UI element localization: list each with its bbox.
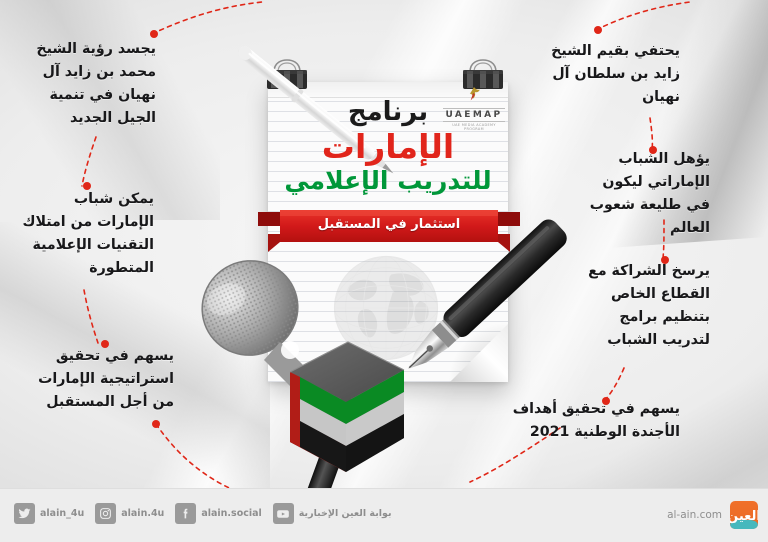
- callout-enable: يمكن شباب الإمارات من امتلاك التقنيات ال…: [14, 188, 154, 280]
- title-line-emirates: الإمارات: [268, 129, 508, 166]
- social-handle-youtube: بوابة العين الإخبارية: [299, 508, 392, 519]
- callout-partnership: يرسخ الشراكة مع القطاع الخاص بتنظيم برام…: [578, 260, 710, 352]
- youtube-icon: [273, 503, 294, 524]
- website-url: al-ain.com: [667, 509, 722, 521]
- callout-vision: يجسد رؤية الشيخ محمد بن زايد آل نهيان في…: [14, 38, 156, 130]
- social-handle-facebook: alain.social: [201, 508, 261, 519]
- social-link-twitter[interactable]: alain_4u: [14, 503, 84, 524]
- twitter-icon: [14, 503, 35, 524]
- social-link-facebook[interactable]: alain.social: [175, 503, 261, 524]
- logo-arabic-glyph: العين: [730, 510, 758, 523]
- connector-dot-partnership: [661, 256, 669, 264]
- uaemap-subtitle: UAE MEDIA ACADEMY PROGRAM: [443, 123, 505, 131]
- uaemap-falcon-icon: [464, 86, 484, 103]
- social-link-youtube[interactable]: بوابة العين الإخبارية: [273, 503, 392, 524]
- callout-values: يحتفي بقيم الشيخ زايد بن سلطان آل نهيان: [530, 40, 680, 109]
- connector-dot-qualify: [649, 146, 657, 154]
- social-links: alain_4u alain.4u alai: [14, 503, 392, 524]
- callout-strategy: يسهم في تحقيق استراتيجية الإمارات من أجل…: [22, 345, 174, 414]
- connector-dot-strategy-out: [152, 420, 160, 428]
- ribbon-banner: استثمار في المستقبل: [258, 206, 520, 254]
- callout-qualify: يؤهل الشباب الإماراتي ليكون في طليعة شعو…: [576, 148, 710, 240]
- uaemap-logo: UAEMAP UAE MEDIA ACADEMY PROGRAM: [443, 86, 505, 131]
- footer-bar: alain_4u alain.4u alai: [0, 488, 768, 542]
- infographic-canvas: يجسد رؤية الشيخ محمد بن زايد آل نهيان في…: [0, 0, 768, 542]
- microphone-icon: [172, 246, 442, 496]
- social-link-instagram[interactable]: alain.4u: [95, 503, 164, 524]
- connector-dot-vision: [150, 30, 158, 38]
- social-handle-instagram: alain.4u: [121, 508, 164, 519]
- connector-dot-agenda: [602, 397, 610, 405]
- al-ain-logo-icon: العين: [730, 501, 758, 529]
- site-brand[interactable]: al-ain.com العين: [667, 501, 758, 529]
- instagram-icon: [95, 503, 116, 524]
- ribbon-text: استثمار في المستقبل: [258, 217, 520, 232]
- facebook-icon: [175, 503, 196, 524]
- uaemap-wordmark: UAEMAP: [443, 108, 505, 122]
- connector-dot-values: [594, 26, 602, 34]
- title-line-media-training: للتدريب الإعلامي: [268, 167, 508, 195]
- social-handle-twitter: alain_4u: [40, 508, 84, 519]
- connector-dot-strategy: [101, 340, 109, 348]
- connector-dot-enable: [83, 182, 91, 190]
